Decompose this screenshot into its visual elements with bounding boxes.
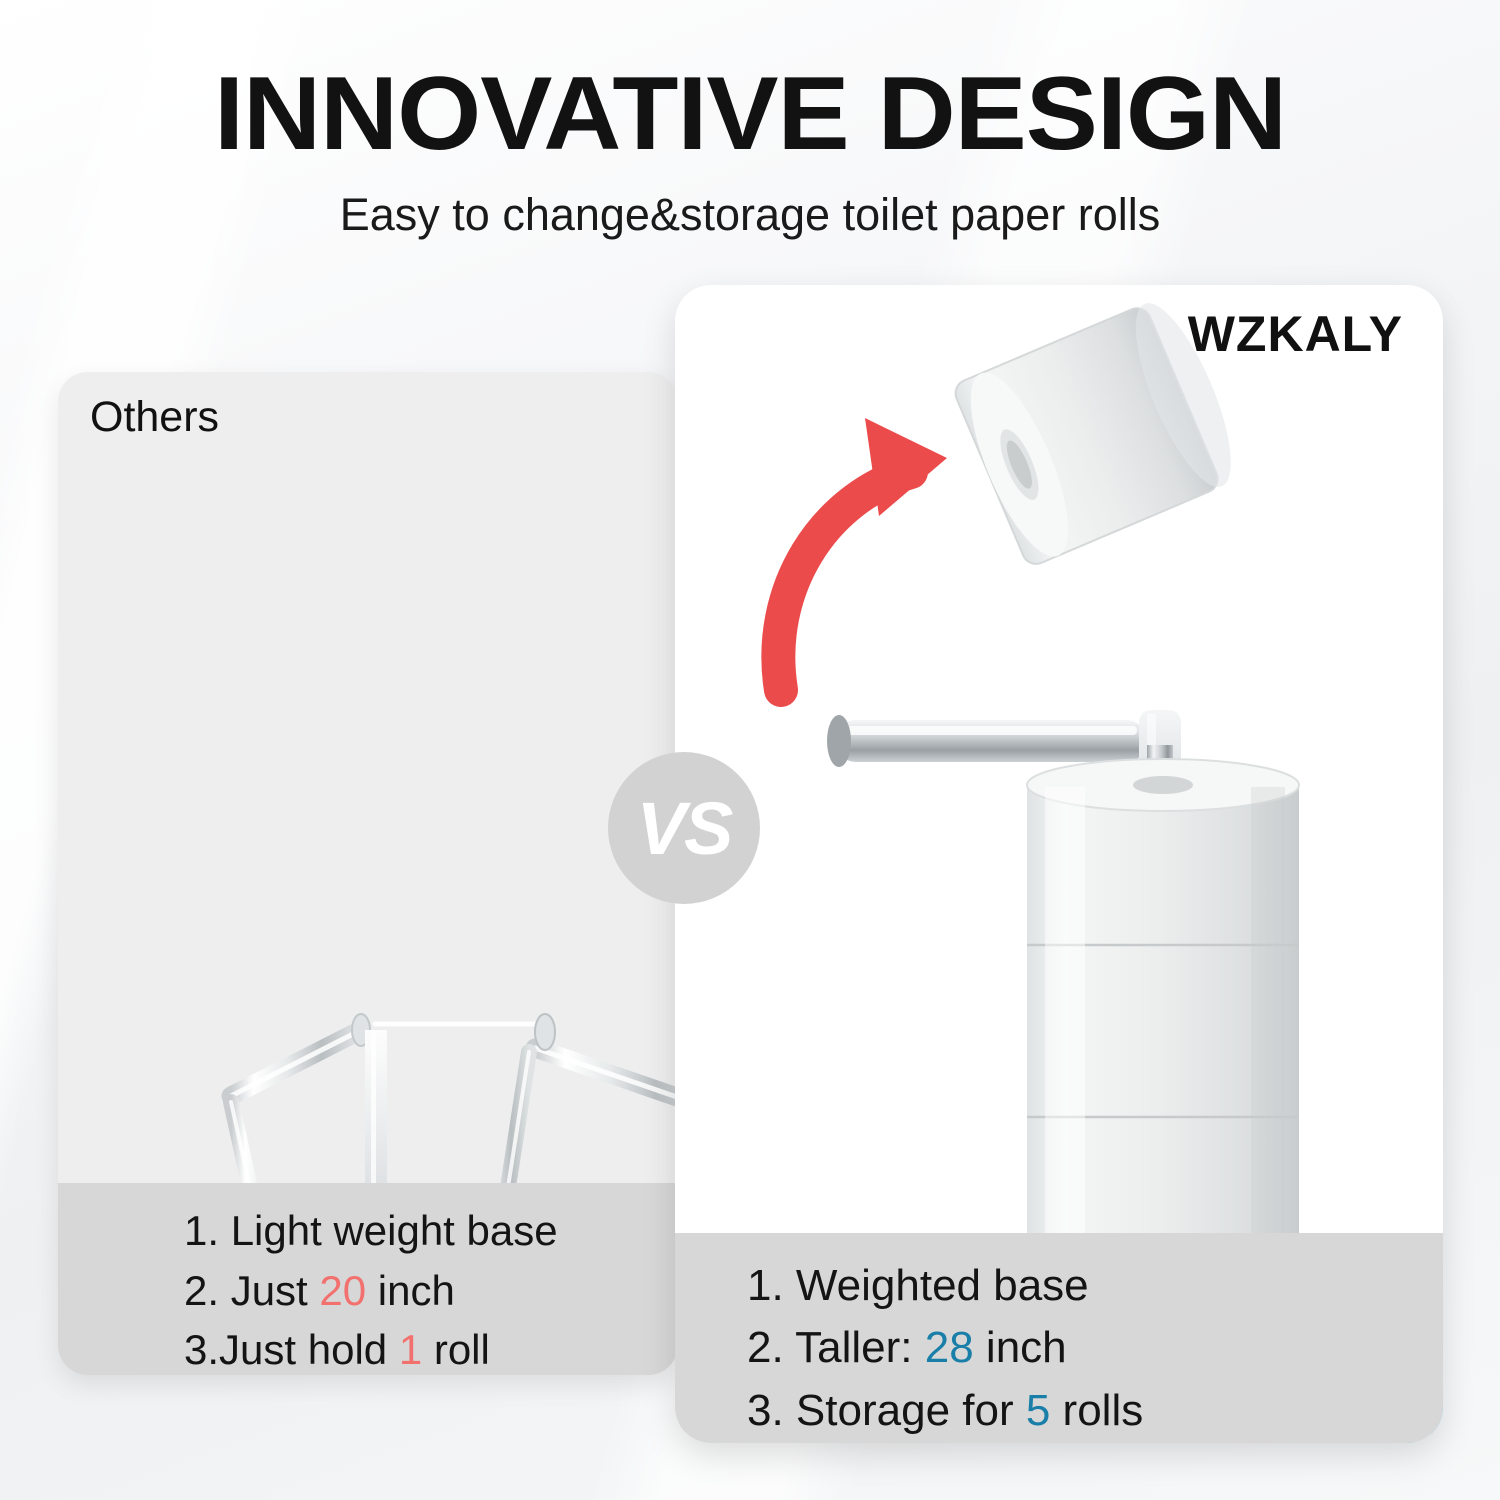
list-item: 3.Just hold 1 roll: [184, 1320, 678, 1375]
loading-toilet-roll: [951, 292, 1249, 568]
list-item: 2. Just 20 inch: [184, 1261, 678, 1321]
competitor-comparison-card: Others: [58, 372, 678, 1375]
curved-arrow-icon: [778, 418, 947, 690]
vs-badge: VS: [608, 752, 760, 904]
competitor-feature-list: 1. Light weight base 2. Just 20 inch 3.J…: [58, 1183, 678, 1375]
list-item: 3. Storage for 5 rolls: [747, 1380, 1443, 1442]
wzkaly-feature-list: 1. Weighted base 2. Taller: 28 inch 3. S…: [675, 1233, 1443, 1442]
infographic-canvas: INNOVATIVE DESIGN Easy to change&storage…: [0, 0, 1500, 1500]
list-item: 1. Light weight base: [184, 1201, 678, 1261]
wzkaly-feature-band: 1. Weighted base 2. Taller: 28 inch 3. S…: [675, 1233, 1443, 1443]
highlight-value: 5: [1026, 1386, 1050, 1435]
card-label-others: Others: [90, 396, 219, 439]
page-title: INNOVATIVE DESIGN: [0, 62, 1500, 166]
highlight-value: 28: [925, 1323, 974, 1372]
page-subtitle: Easy to change&storage toilet paper roll…: [0, 192, 1500, 237]
highlight-value: 1: [399, 1326, 422, 1373]
highlight-value: 20: [319, 1267, 366, 1314]
list-item: 2. Taller: 28 inch: [747, 1317, 1443, 1379]
list-item: 1. Weighted base: [747, 1255, 1443, 1317]
wzkaly-product-card: WZKALY: [675, 285, 1443, 1443]
competitor-feature-band: 1. Light weight base 2. Just 20 inch 3.J…: [58, 1183, 678, 1375]
